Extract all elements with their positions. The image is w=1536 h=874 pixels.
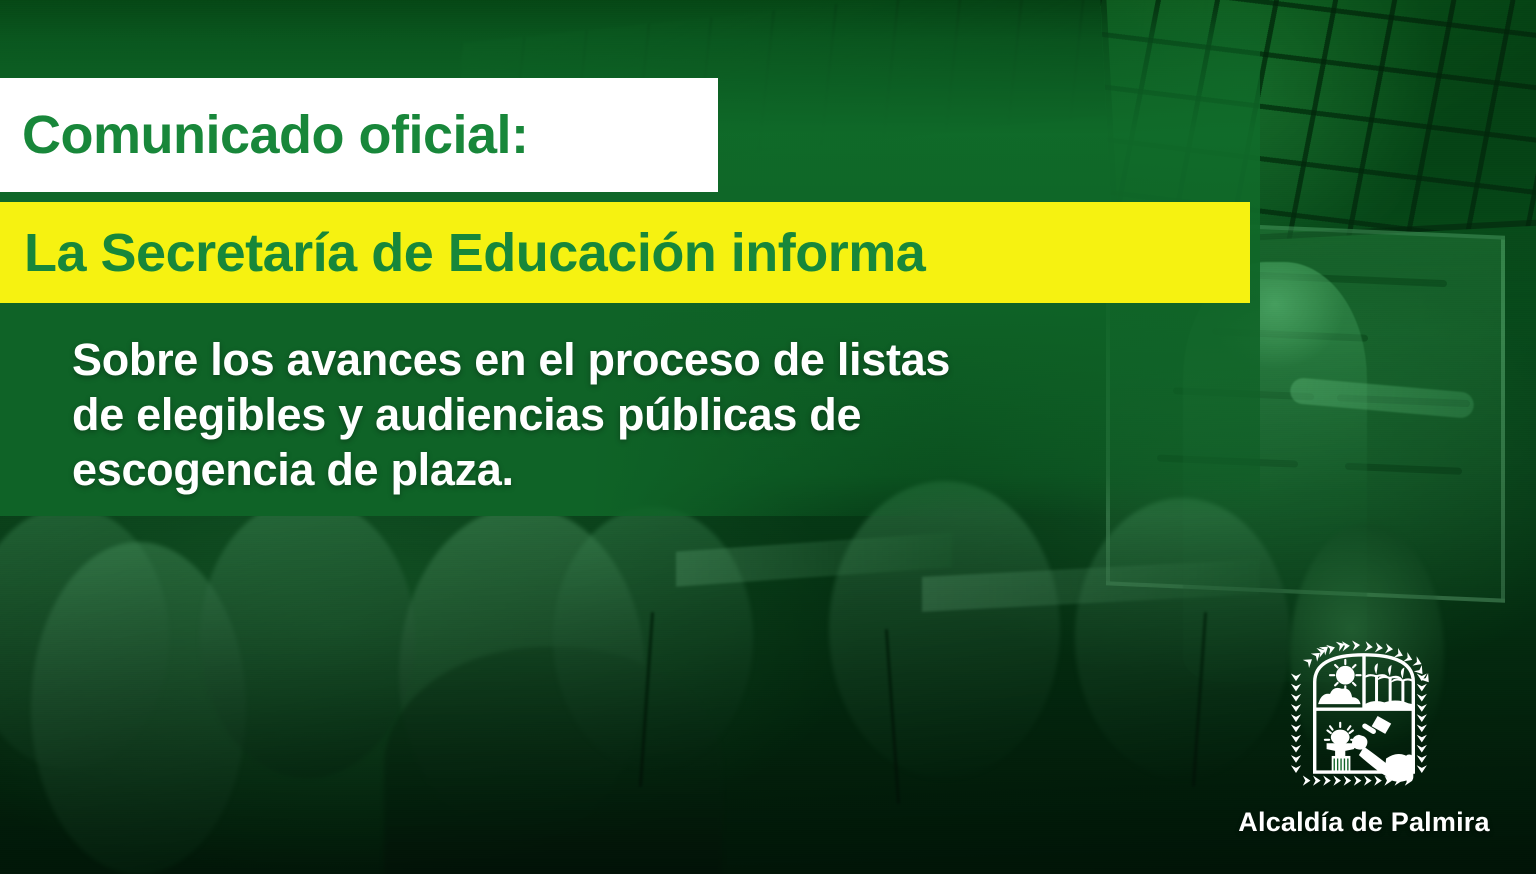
headline-secretaria-educacion: La Secretaría de Educación informa [0,222,925,284]
yellow-headline-band: La Secretaría de Educación informa [0,202,1250,303]
body-copy-line-2: de elegibles y audiencias públicas de [72,388,1202,443]
headline-comunicado-oficial: Comunicado oficial: [0,104,529,166]
coat-of-arms-icon [1279,631,1449,801]
alcaldia-logo: Alcaldía de Palmira [1254,631,1474,838]
body-copy: Sobre los avances en el proceso de lista… [72,333,1202,498]
sun-and-clouds-emblem [1318,660,1361,704]
body-copy-line-1: Sobre los avances en el proceso de lista… [72,333,1202,388]
announcement-poster: Comunicado oficial: La Secretaría de Edu… [0,0,1536,874]
white-headline-band: Comunicado oficial: [0,78,718,192]
logo-wordmark: Alcaldía de Palmira [1238,807,1489,838]
body-copy-line-3: escogencia de plaza. [72,443,1202,498]
palm-trees-emblem [1364,663,1415,707]
